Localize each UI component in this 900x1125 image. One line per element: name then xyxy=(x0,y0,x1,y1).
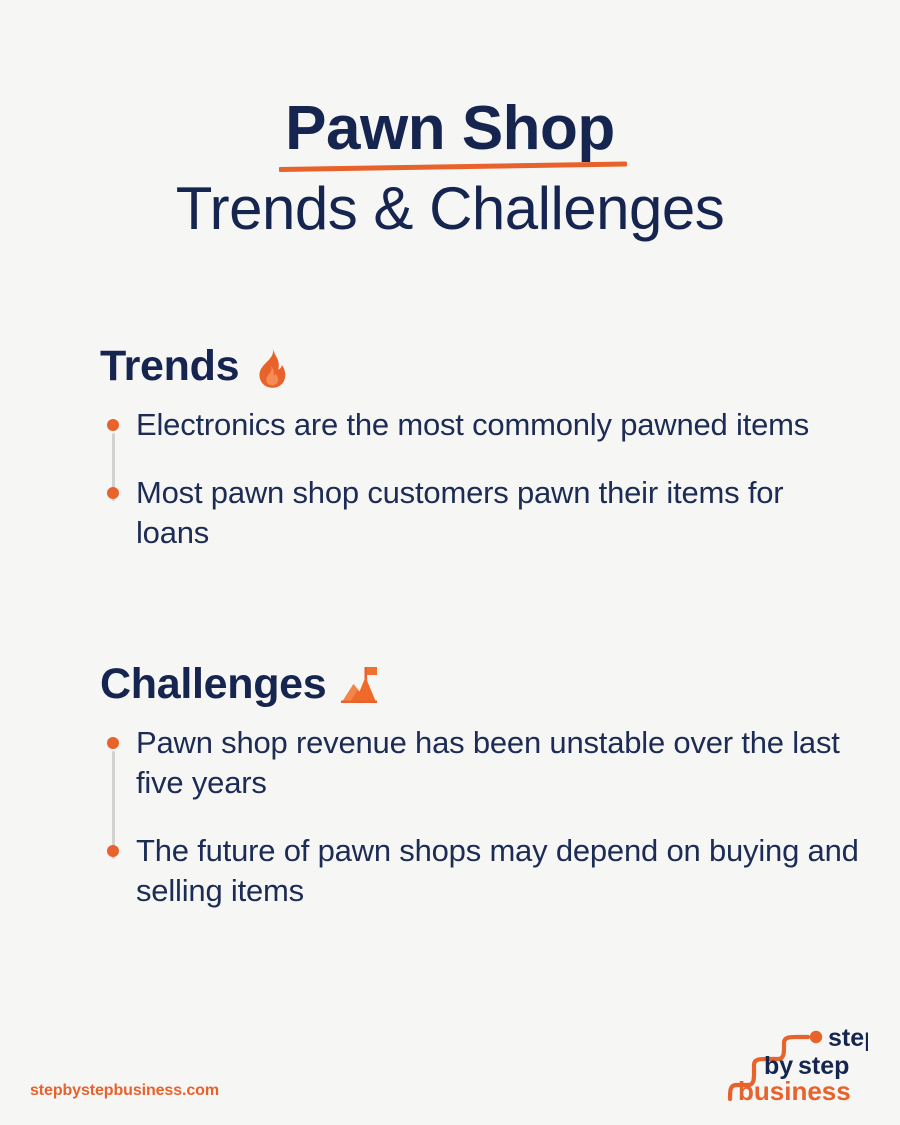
section-challenges-heading: Challenges xyxy=(100,660,860,709)
title-main-text: Pawn Shop xyxy=(285,96,615,163)
trends-bullet-list: Electronics are the most commonly pawned… xyxy=(100,405,860,553)
title-main-wrapper: Pawn Shop xyxy=(285,96,615,163)
logo-text-business: business xyxy=(738,1076,851,1103)
challenges-bullet-list: Pawn shop revenue has been unstable over… xyxy=(100,723,860,911)
bullet-dot-icon xyxy=(107,487,119,499)
footer-website-url[interactable]: stepbystepbusiness.com xyxy=(30,1082,219,1100)
section-trends: Trends Electronics are the most commonly… xyxy=(100,342,860,553)
fire-icon xyxy=(252,346,292,388)
list-item-text: Most pawn shop customers pawn their item… xyxy=(136,475,783,550)
bullet-dot-icon xyxy=(107,737,119,749)
list-item-text: The future of pawn shops may depend on b… xyxy=(136,833,859,908)
list-item-text: Pawn shop revenue has been unstable over… xyxy=(136,725,840,800)
bullet-dot-icon xyxy=(107,845,119,857)
list-item: Electronics are the most commonly pawned… xyxy=(100,405,860,445)
mountain-flag-icon xyxy=(339,664,379,706)
title-underline-accent xyxy=(279,161,627,171)
list-item: The future of pawn shops may depend on b… xyxy=(100,831,860,911)
section-challenges-heading-label: Challenges xyxy=(100,660,326,709)
page-title: Pawn Shop Trends & Challenges xyxy=(0,96,900,242)
logo-text-step: step xyxy=(828,1024,868,1052)
section-trends-heading-label: Trends xyxy=(100,342,239,391)
section-challenges: Challenges Pawn shop revenue has been un… xyxy=(100,660,860,911)
brand-logo[interactable]: step by step business xyxy=(722,1021,868,1103)
list-item-text: Electronics are the most commonly pawned… xyxy=(136,407,809,442)
infographic-canvas: Pawn Shop Trends & Challenges Trends Ele… xyxy=(0,0,900,1125)
section-trends-heading: Trends xyxy=(100,342,860,391)
title-subtitle-text: Trends & Challenges xyxy=(0,177,900,242)
list-item: Most pawn shop customers pawn their item… xyxy=(100,473,860,553)
bullet-dot-icon xyxy=(107,419,119,431)
list-item: Pawn shop revenue has been unstable over… xyxy=(100,723,860,803)
